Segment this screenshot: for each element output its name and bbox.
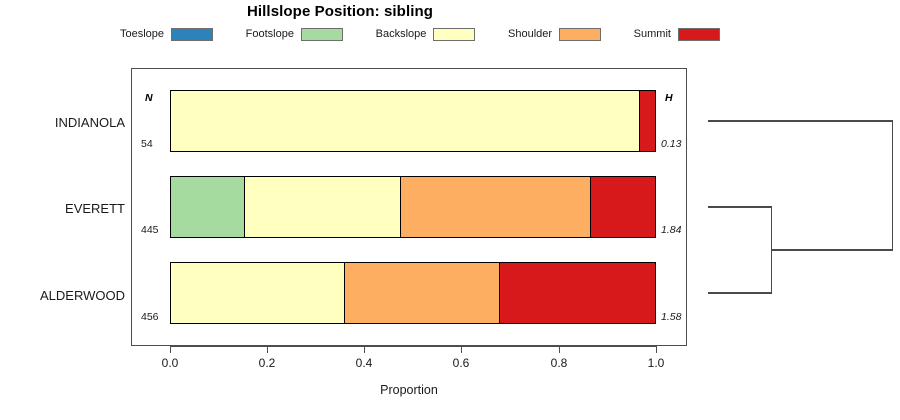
row-label-indianola: INDIANOLA xyxy=(5,115,125,130)
x-axis-tick xyxy=(364,346,365,353)
h-column-header: H xyxy=(665,92,673,104)
bar-segment-summit[interactable] xyxy=(500,263,655,323)
x-axis-title: Proportion xyxy=(131,383,687,397)
bar-segment-backslope[interactable] xyxy=(245,177,401,237)
dendrogram-branch-cluster xyxy=(771,249,893,251)
bar-segment-footslope[interactable] xyxy=(171,177,245,237)
x-axis-tick xyxy=(559,346,560,353)
bar-segment-backslope[interactable] xyxy=(171,91,640,151)
row-entropy-everett: 1.84 xyxy=(661,224,681,236)
legend-label: Backslope xyxy=(376,28,427,40)
page-title: Hillslope Position: sibling xyxy=(0,3,680,20)
legend-item-summit[interactable]: Summit xyxy=(634,28,720,41)
dendrogram-branch-indianola xyxy=(708,120,893,122)
x-axis-tick xyxy=(267,346,268,353)
bar-row-indianola[interactable] xyxy=(170,90,656,152)
row-entropy-alderwood: 1.58 xyxy=(661,311,681,323)
legend-item-backslope[interactable]: Backslope xyxy=(376,28,476,41)
legend-label: Toeslope xyxy=(120,28,164,40)
legend-swatch-footslope xyxy=(301,28,343,41)
dendrogram-branch-alderwood xyxy=(708,292,772,294)
x-axis-line xyxy=(170,346,657,347)
legend-swatch-summit xyxy=(678,28,720,41)
x-axis-tick-label: 0.2 xyxy=(245,356,289,370)
bar-segment-backslope[interactable] xyxy=(171,263,345,323)
row-label-everett: EVERETT xyxy=(5,201,125,216)
legend-swatch-backslope xyxy=(433,28,475,41)
legend-item-shoulder[interactable]: Shoulder xyxy=(508,28,601,41)
n-column-header: N xyxy=(145,92,153,104)
chart-legend: Toeslope Footslope Backslope Shoulder Su… xyxy=(120,24,720,44)
legend-item-footslope[interactable]: Footslope xyxy=(246,28,343,41)
row-count-alderwood: 456 xyxy=(141,311,159,323)
bar-segment-shoulder[interactable] xyxy=(345,263,500,323)
x-axis-tick-label: 0.6 xyxy=(439,356,483,370)
row-count-indianola: 54 xyxy=(141,138,153,150)
row-entropy-indianola: 0.13 xyxy=(661,138,681,150)
legend-label: Footslope xyxy=(246,28,294,40)
x-axis-tick-label: 0.0 xyxy=(148,356,192,370)
bar-segment-shoulder[interactable] xyxy=(401,177,591,237)
row-label-alderwood: ALDERWOOD xyxy=(5,288,125,303)
legend-swatch-shoulder xyxy=(559,28,601,41)
dendrogram-node-root xyxy=(892,120,894,250)
legend-item-toeslope[interactable]: Toeslope xyxy=(120,28,213,41)
x-axis-tick-label: 1.0 xyxy=(634,356,678,370)
dendrogram xyxy=(690,68,900,346)
dendrogram-branch-everett xyxy=(708,206,772,208)
row-count-everett: 445 xyxy=(141,224,159,236)
bar-row-everett[interactable] xyxy=(170,176,656,238)
bar-segment-summit[interactable] xyxy=(591,177,655,237)
bar-segment-summit[interactable] xyxy=(640,91,655,151)
legend-label: Shoulder xyxy=(508,28,552,40)
legend-swatch-toeslope xyxy=(171,28,213,41)
x-axis-tick-label: 0.8 xyxy=(537,356,581,370)
x-axis-tick xyxy=(656,346,657,353)
x-axis-tick-label: 0.4 xyxy=(342,356,386,370)
bar-row-alderwood[interactable] xyxy=(170,262,656,324)
chart-figure: Hillslope Position: sibling Toeslope Foo… xyxy=(0,0,900,420)
x-axis-tick xyxy=(461,346,462,353)
legend-label: Summit xyxy=(634,28,671,40)
x-axis-tick xyxy=(170,346,171,353)
